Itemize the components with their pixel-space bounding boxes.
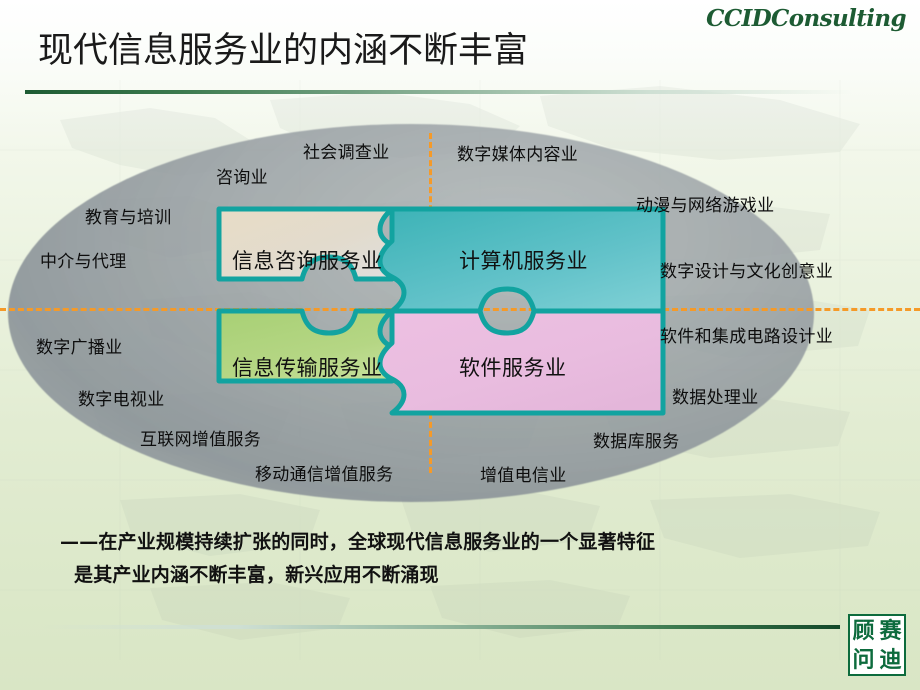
seal-char-1: 顾 bbox=[850, 616, 877, 645]
ccid-seal-logo: 顾 赛 问 迪 bbox=[848, 614, 906, 676]
annotation-mobile-vas: 移动通信增值服务 bbox=[255, 460, 393, 485]
annotation-software-ic-design: 软件和集成电路设计业 bbox=[660, 322, 833, 347]
annotation-database-service: 数据库服务 bbox=[593, 427, 680, 452]
annotation-value-added-telecom: 增值电信业 bbox=[480, 461, 567, 486]
seal-char-4: 迪 bbox=[877, 645, 904, 674]
slide-caption: ——在产业规模持续扩张的同时，全球现代信息服务业的一个显著特征 是其产业内涵不断… bbox=[60, 526, 890, 593]
puzzle-label-info-consulting: 信息咨询服务业 bbox=[232, 245, 383, 275]
footer-rule bbox=[25, 625, 840, 629]
annotation-animation-games: 动漫与网络游戏业 bbox=[636, 191, 774, 216]
annotation-agency-brokerage: 中介与代理 bbox=[40, 247, 127, 272]
annotation-digital-design: 数字设计与文化创意业 bbox=[660, 257, 833, 282]
annotation-digital-broadcast: 数字广播业 bbox=[36, 333, 123, 358]
annotation-social-survey: 社会调查业 bbox=[303, 138, 390, 163]
annotation-education-training: 教育与培训 bbox=[85, 203, 172, 228]
annotation-consulting: 咨询业 bbox=[216, 163, 268, 188]
annotation-digital-media: 数字媒体内容业 bbox=[457, 140, 578, 165]
puzzle-label-computer-services: 计算机服务业 bbox=[459, 245, 588, 275]
seal-char-2: 赛 bbox=[877, 616, 904, 645]
puzzle-label-software-services: 软件服务业 bbox=[459, 352, 567, 382]
puzzle-group bbox=[216, 206, 666, 418]
annotation-internet-vas: 互联网增值服务 bbox=[140, 425, 261, 450]
caption-line-1: ——在产业规模持续扩张的同时，全球现代信息服务业的一个显著特征 bbox=[60, 531, 655, 553]
seal-char-3: 问 bbox=[850, 645, 877, 674]
annotation-digital-tv: 数字电视业 bbox=[78, 385, 165, 410]
caption-line-2: 是其产业内涵不断丰富，新兴应用不断涌现 bbox=[60, 559, 890, 592]
puzzle-label-info-transmission: 信息传输服务业 bbox=[232, 352, 383, 382]
annotation-data-processing: 数据处理业 bbox=[672, 383, 759, 408]
slide-canvas: CCIDConsulting 现代信息服务业的内涵不断丰富 bbox=[0, 0, 920, 690]
